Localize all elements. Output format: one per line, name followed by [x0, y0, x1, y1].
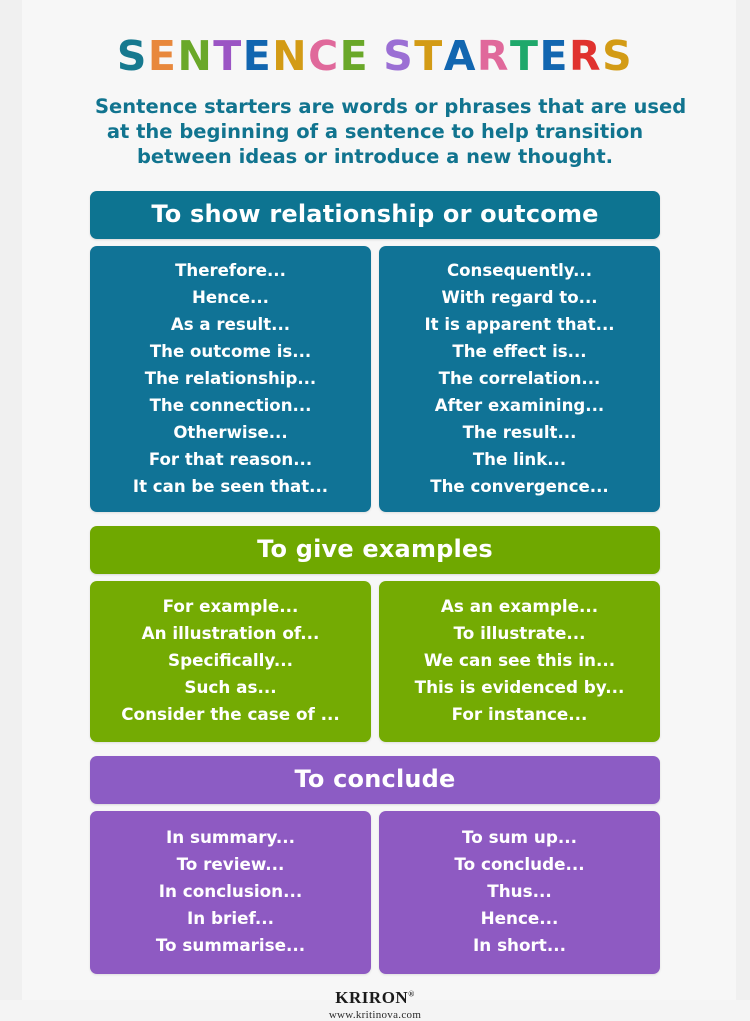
phrase-column: As an example...To illustrate...We can s… [379, 581, 660, 742]
title-letter: N [272, 36, 308, 77]
phrase-item: The result... [385, 419, 654, 446]
section-conclude: To concludeIn summary...To review...In c… [90, 756, 660, 974]
section-columns: In summary...To review...In conclusion..… [90, 811, 660, 974]
phrase-item: Hence... [96, 284, 365, 311]
phrase-item: With regard to... [385, 284, 654, 311]
title-letter: E [340, 36, 370, 77]
phrase-item: To summarise... [96, 932, 365, 959]
phrase-item: Otherwise... [96, 419, 365, 446]
section-header-examples: To give examples [90, 526, 660, 574]
phrase-item: The connection... [96, 392, 365, 419]
website-url: www.kritinova.com [0, 1009, 750, 1021]
phrase-item: Specifically... [96, 647, 365, 674]
phrase-item: Consequently... [385, 257, 654, 284]
title-letter: T [414, 36, 443, 77]
section-examples: To give examplesFor example...An illustr… [90, 526, 660, 742]
phrase-item: In conclusion... [96, 878, 365, 905]
phrase-item: In summary... [96, 824, 365, 851]
title-letter: R [477, 36, 510, 77]
title-letter: N [177, 36, 213, 77]
phrase-item: Thus... [385, 878, 654, 905]
phrase-item: Such as... [96, 674, 365, 701]
phrase-item: An illustration of... [96, 620, 365, 647]
subtitle-line: Sentence starters are words or phrases t… [95, 94, 655, 119]
phrase-item: Consider the case of ... [96, 701, 365, 728]
phrase-item: As a result... [96, 311, 365, 338]
phrase-item: We can see this in... [385, 647, 654, 674]
brand-logo: KRIRON® [335, 988, 414, 1008]
phrase-item: It can be seen that... [96, 473, 365, 500]
title-letter: R [569, 36, 602, 77]
phrase-item: To illustrate... [385, 620, 654, 647]
phrase-column: Consequently...With regard to...It is ap… [379, 246, 660, 512]
phrase-column: Therefore...Hence...As a result...The ou… [90, 246, 371, 512]
section-header-relationship: To show relationship or outcome [90, 191, 660, 239]
sections-container: To show relationship or outcomeTherefore… [0, 191, 750, 974]
registered-mark-icon: ® [408, 989, 414, 998]
title-letter: C [308, 36, 340, 77]
phrase-column: In summary...To review...In conclusion..… [90, 811, 371, 974]
title-letter: A [444, 36, 477, 77]
section-header-conclude: To conclude [90, 756, 660, 804]
phrase-item: After examining... [385, 392, 654, 419]
title-letter: E [243, 36, 273, 77]
phrase-item: The link... [385, 446, 654, 473]
phrase-item: To review... [96, 851, 365, 878]
poster-content: SENTENCESTARTERS Sentence starters are w… [0, 0, 750, 1021]
title-letter: T [510, 36, 539, 77]
phrase-item: In brief... [96, 905, 365, 932]
phrase-column: For example...An illustration of...Speci… [90, 581, 371, 742]
title-letter: S [117, 36, 148, 77]
phrase-item: The convergence... [385, 473, 654, 500]
section-columns: Therefore...Hence...As a result...The ou… [90, 246, 660, 512]
phrase-item: The relationship... [96, 365, 365, 392]
title-letter: S [602, 36, 633, 77]
phrase-item: This is evidenced by... [385, 674, 654, 701]
poster-page: SENTENCESTARTERS Sentence starters are w… [0, 0, 750, 1000]
title-letter: T [213, 36, 242, 77]
phrase-item: It is apparent that... [385, 311, 654, 338]
brand-name: KRIRON [335, 988, 408, 1007]
subtitle-line: at the beginning of a sentence to help t… [95, 119, 655, 144]
phrase-item: To conclude... [385, 851, 654, 878]
phrase-item: Hence... [385, 905, 654, 932]
phrase-item: For that reason... [96, 446, 365, 473]
phrase-item: The effect is... [385, 338, 654, 365]
title-letter: S [383, 36, 414, 77]
phrase-item: In short... [385, 932, 654, 959]
phrase-item: Therefore... [96, 257, 365, 284]
footer: KRIRON® www.kritinova.com [0, 988, 750, 1021]
phrase-column: To sum up...To conclude...Thus...Hence..… [379, 811, 660, 974]
title-letter: E [539, 36, 569, 77]
phrase-item: For instance... [385, 701, 654, 728]
title-letter: E [148, 36, 178, 77]
phrase-item: For example... [96, 593, 365, 620]
phrase-item: As an example... [385, 593, 654, 620]
section-relationship: To show relationship or outcomeTherefore… [90, 191, 660, 512]
phrase-item: The correlation... [385, 365, 654, 392]
page-title: SENTENCESTARTERS [117, 36, 633, 77]
subtitle-line: between ideas or introduce a new thought… [95, 144, 655, 169]
subtitle-text: Sentence starters are words or phrases t… [0, 94, 750, 169]
phrase-item: The outcome is... [96, 338, 365, 365]
section-columns: For example...An illustration of...Speci… [90, 581, 660, 742]
title-area: SENTENCESTARTERS [0, 0, 750, 77]
phrase-item: To sum up... [385, 824, 654, 851]
